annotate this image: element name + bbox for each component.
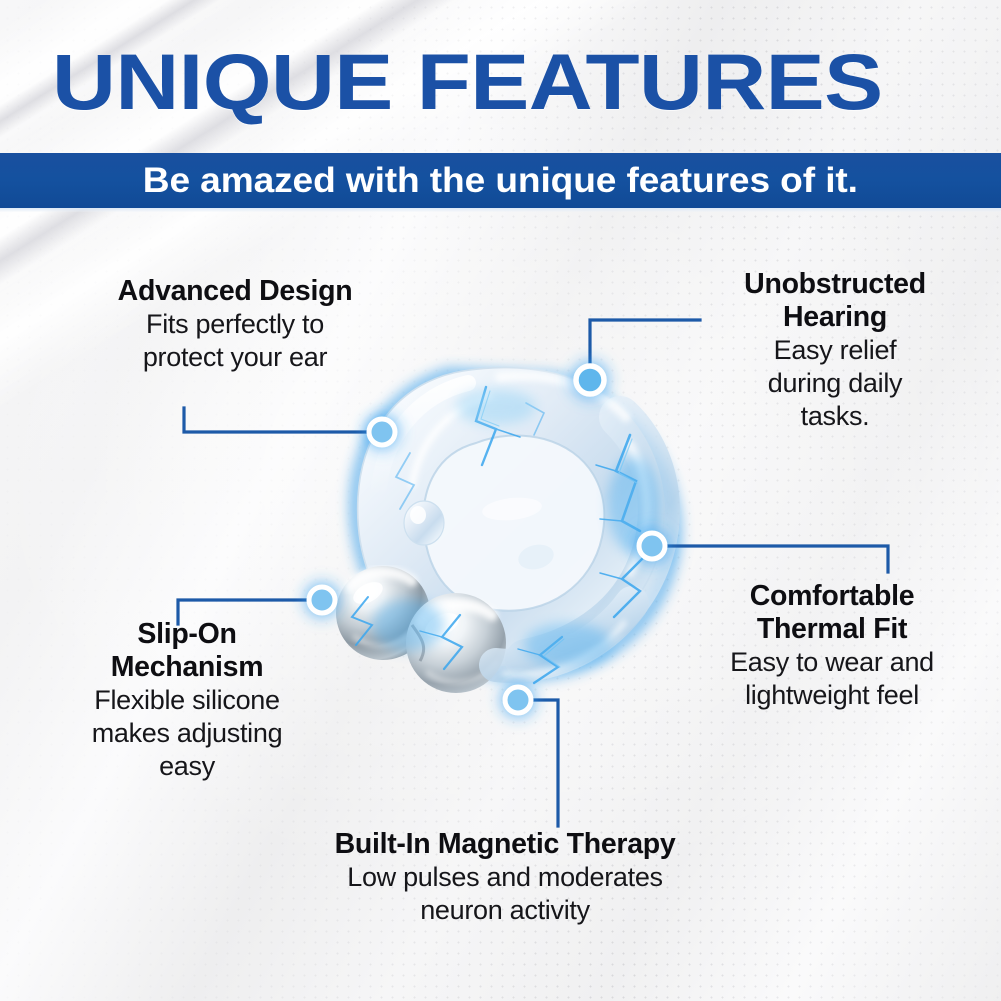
callout-body-line: during daily [690,367,980,400]
callout-comfortable-thermal-fit: Comfortable Thermal Fit Easy to wear and… [672,580,992,712]
callout-body-line: makes adjusting [22,717,352,750]
callout-title: Mechanism [22,651,352,684]
callout-body-line: easy [22,750,352,783]
subtitle-bar: Be amazed with the unique features of it… [0,153,1001,208]
callout-body-line: protect your ear [40,341,430,374]
callout-title: Thermal Fit [672,613,992,646]
page-title: UNIQUE FEATURES [52,42,1001,122]
callout-title: Comfortable [672,580,992,613]
product-image [300,325,720,725]
callout-body-line: lightweight feel [672,679,992,712]
callout-body-line: Fits perfectly to [40,308,430,341]
callout-body-line: Easy to wear and [672,646,992,679]
callout-unobstructed-hearing: Unobstructed Hearing Easy relief during … [690,268,980,433]
callout-body-line: neuron activity [290,894,720,927]
header-title-zone: UNIQUE FEATURES [0,0,1001,153]
callout-title: Advanced Design [40,275,430,308]
callout-title: Slip-On [22,618,352,651]
callout-slip-on-mechanism: Slip-On Mechanism Flexible silicone make… [22,618,352,783]
infographic-page: UNIQUE FEATURES Be amazed with the uniqu… [0,0,1001,1001]
callout-title: Built-In Magnetic Therapy [290,828,720,861]
callout-advanced-design: Advanced Design Fits perfectly to protec… [40,275,430,374]
callout-body-line: Flexible silicone [22,684,352,717]
subtitle-text: Be amazed with the unique features of it… [143,162,858,200]
subtitle-bar-underline [0,208,1001,212]
callout-body-line: tasks. [690,400,980,433]
callout-title: Hearing [690,301,980,334]
callout-built-in-magnetic-therapy: Built-In Magnetic Therapy Low pulses and… [290,828,720,927]
callout-title: Unobstructed [690,268,980,301]
callout-body-line: Easy relief [690,334,980,367]
callout-body-line: Low pulses and moderates [290,861,720,894]
